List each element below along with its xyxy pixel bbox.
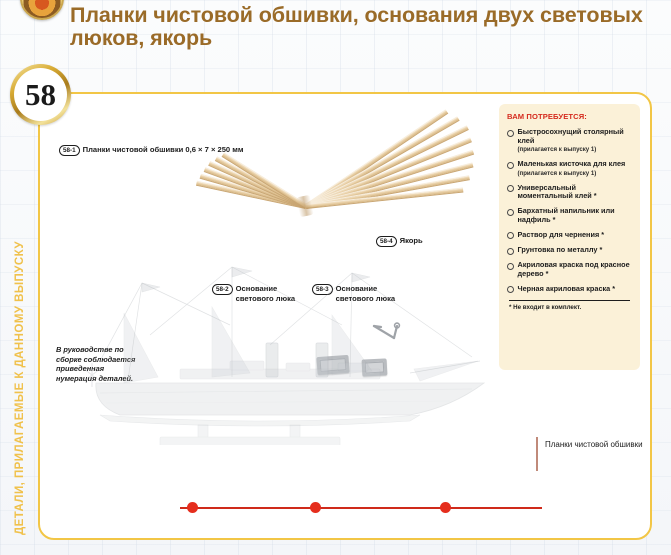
page-root: Планки чистовой обшивки, основания двух … [0,0,671,555]
plank-marker-dot [310,502,321,513]
ship-model-photo [80,265,500,445]
material-label: Грунтовка по металлу * [518,246,603,255]
part-callout-58-4: 58-4 Якорь [376,236,423,247]
material-label: Маленькая кисточка для клея [518,160,626,169]
material-label: Черная акриловая краска * [518,285,616,294]
divider [509,300,630,301]
material-item: Черная акриловая краска * [507,285,632,294]
checkbox-circle-icon[interactable] [507,162,514,169]
page-number-badge: 58 [10,64,71,125]
material-item: Универсальный моментальный клей * [507,184,632,201]
plank-indicator-line [180,507,542,509]
page-header: Планки чистовой обшивки, основания двух … [70,4,650,50]
page-title: Планки чистовой обшивки, основания двух … [70,4,650,50]
checkbox-circle-icon[interactable] [507,286,514,293]
material-item: Бархатный напильник или надфиль * [507,207,632,224]
sidebar-section-label: ДЕТАЛИ, ПРИЛАГАЕМЫЕ К ДАННОМУ ВЫПУСКУ [10,135,30,535]
material-note: (прилагается к выпуску 1) [518,146,633,153]
part-callout-58-1: 58-1 Планки чистовой обшивки 0,6 × 7 × 2… [59,145,244,156]
ship-plank-callout: Планки чистовой обшивки [545,440,645,451]
plank-marker-dot [187,502,198,513]
material-label: Бархатный напильник или надфиль * [518,207,633,224]
checkbox-circle-icon[interactable] [507,263,514,270]
material-label: Раствор для чернения * [518,231,605,240]
ship-plank-callout-label: Планки чистовой обшивки [545,440,645,451]
material-note: (прилагается к выпуску 1) [518,170,626,177]
material-item: Маленькая кисточка для клея (прилагается… [507,160,632,177]
plank-marker-dot [440,502,451,513]
checkbox-circle-icon[interactable] [507,232,514,239]
part-label: Якорь [400,236,423,246]
material-label: Быстросохнущий столярный клей [518,128,633,145]
material-item: Грунтовка по металлу * [507,246,632,255]
checkbox-circle-icon[interactable] [507,185,514,192]
plank-bundle-tie [296,195,314,217]
materials-panel: ВАМ ПОТРЕБУЕТСЯ: Быстросохнущий столярны… [499,104,640,370]
materials-heading: ВАМ ПОТРЕБУЕТСЯ: [507,112,632,121]
checkbox-circle-icon[interactable] [507,248,514,255]
brand-medallion-icon [20,0,64,20]
materials-footnote: * Не входит в комплект. [507,304,632,311]
callout-leader-line [536,437,538,471]
material-item: Раствор для чернения * [507,231,632,240]
material-label: Акриловая краска под красное дерево * [518,261,633,278]
material-item: Быстросохнущий столярный клей (прилагает… [507,128,632,154]
checkbox-circle-icon[interactable] [507,130,514,137]
page-number-value: 58 [25,79,56,110]
ship-illustration [80,265,500,445]
part-tag: 58-4 [376,236,397,247]
sidebar-section-label-text: ДЕТАЛИ, ПРИЛАГАЕМЫЕ К ДАННОМУ ВЫПУСКУ [14,241,26,535]
part-label: Планки чистовой обшивки 0,6 × 7 × 250 мм [83,145,244,155]
checkbox-circle-icon[interactable] [507,209,514,216]
material-label: Универсальный моментальный клей * [518,184,633,201]
material-item: Акриловая краска под красное дерево * [507,261,632,278]
part-tag: 58-1 [59,145,80,156]
